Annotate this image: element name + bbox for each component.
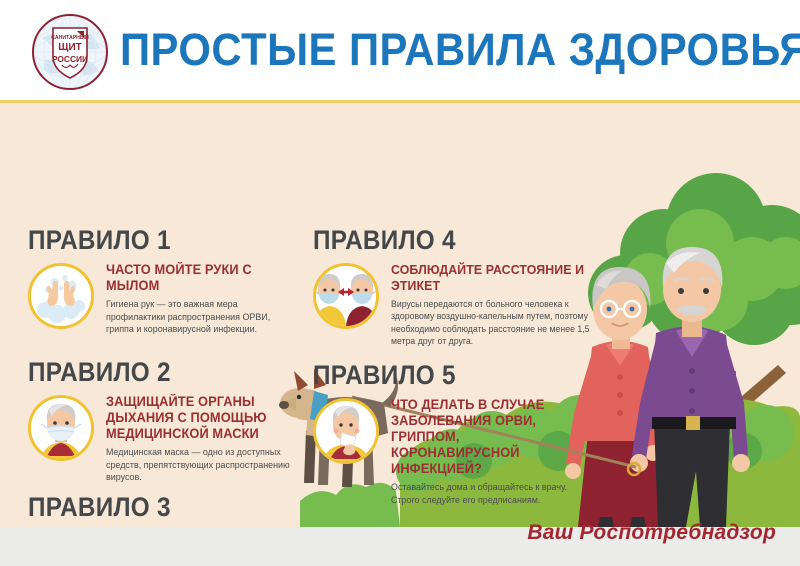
rule-card-3: ПРАВИЛО 3 bbox=[28, 493, 298, 527]
rule-heading-1: ЧАСТО МОЙТЕ РУКИ С МЫЛОМ bbox=[106, 262, 288, 294]
poster-body: ПРАВИЛО 1 bbox=[0, 103, 800, 527]
social-distance-icon bbox=[313, 263, 379, 329]
sanitary-shield-of-russia-logo: САНИТАРНЫЙ ЩИТ РОССИИ bbox=[22, 8, 118, 96]
washing-hands-icon bbox=[28, 263, 94, 329]
poster-header: САНИТАРНЫЙ ЩИТ РОССИИ ПРОСТЫЕ ПРАВИЛА ЗД… bbox=[0, 0, 800, 103]
rule-heading-5: ЧТО ДЕЛАТЬ В СЛУЧАЕ ЗАБОЛЕВАНИЯ ОРВИ, ГР… bbox=[391, 397, 573, 477]
svg-text:РОССИИ: РОССИИ bbox=[52, 54, 88, 64]
rule-description-1: Гигиена рук — это важная мера профилакти… bbox=[106, 298, 290, 336]
rule-label-3: ПРАВИЛО 3 bbox=[28, 493, 271, 521]
rule-card-1: ПРАВИЛО 1 bbox=[28, 226, 298, 336]
rule-label-4: ПРАВИЛО 4 bbox=[313, 226, 574, 254]
person-wearing-mask-icon bbox=[28, 395, 94, 461]
rule-description-5: Оставайтесь дома и обращайтесь к врачу. … bbox=[391, 481, 575, 506]
rule-label-2: ПРАВИЛО 2 bbox=[28, 358, 271, 386]
footer-brand-text: Ваш Роспотребнадзор bbox=[527, 521, 776, 545]
svg-text:ЩИТ: ЩИТ bbox=[58, 42, 82, 53]
rule-heading-4: СОБЛЮДАЙТЕ РАССТОЯНИЕ И ЭТИКЕТ bbox=[391, 262, 592, 294]
sick-person-sneezing-icon bbox=[313, 398, 379, 464]
poster-root: САНИТАРНЫЙ ЩИТ РОССИИ ПРОСТЫЕ ПРАВИЛА ЗД… bbox=[0, 0, 800, 566]
rule-heading-2: ЗАЩИЩАЙТЕ ОРГАНЫ ДЫХАНИЯ С ПОМОЩЬЮ МЕДИЦ… bbox=[106, 394, 288, 442]
rule-card-4: ПРАВИЛО 4 bbox=[313, 226, 603, 348]
rule-description-4: Вирусы передаются от больного человека к… bbox=[391, 298, 595, 348]
page-title: ПРОСТЫЕ ПРАВИЛА ЗДОРОВЬЯ bbox=[120, 22, 738, 78]
rule-card-5: ПРАВИЛО 5 bbox=[313, 361, 583, 506]
rule-label-1: ПРАВИЛО 1 bbox=[28, 226, 271, 254]
rule-card-2: ПРАВИЛО 2 bbox=[28, 358, 298, 484]
rule-label-5: ПРАВИЛО 5 bbox=[313, 361, 556, 389]
svg-text:САНИТАРНЫЙ: САНИТАРНЫЙ bbox=[51, 33, 89, 41]
rule-description-2: Медицинская маска — одно из доступных ср… bbox=[106, 446, 290, 484]
